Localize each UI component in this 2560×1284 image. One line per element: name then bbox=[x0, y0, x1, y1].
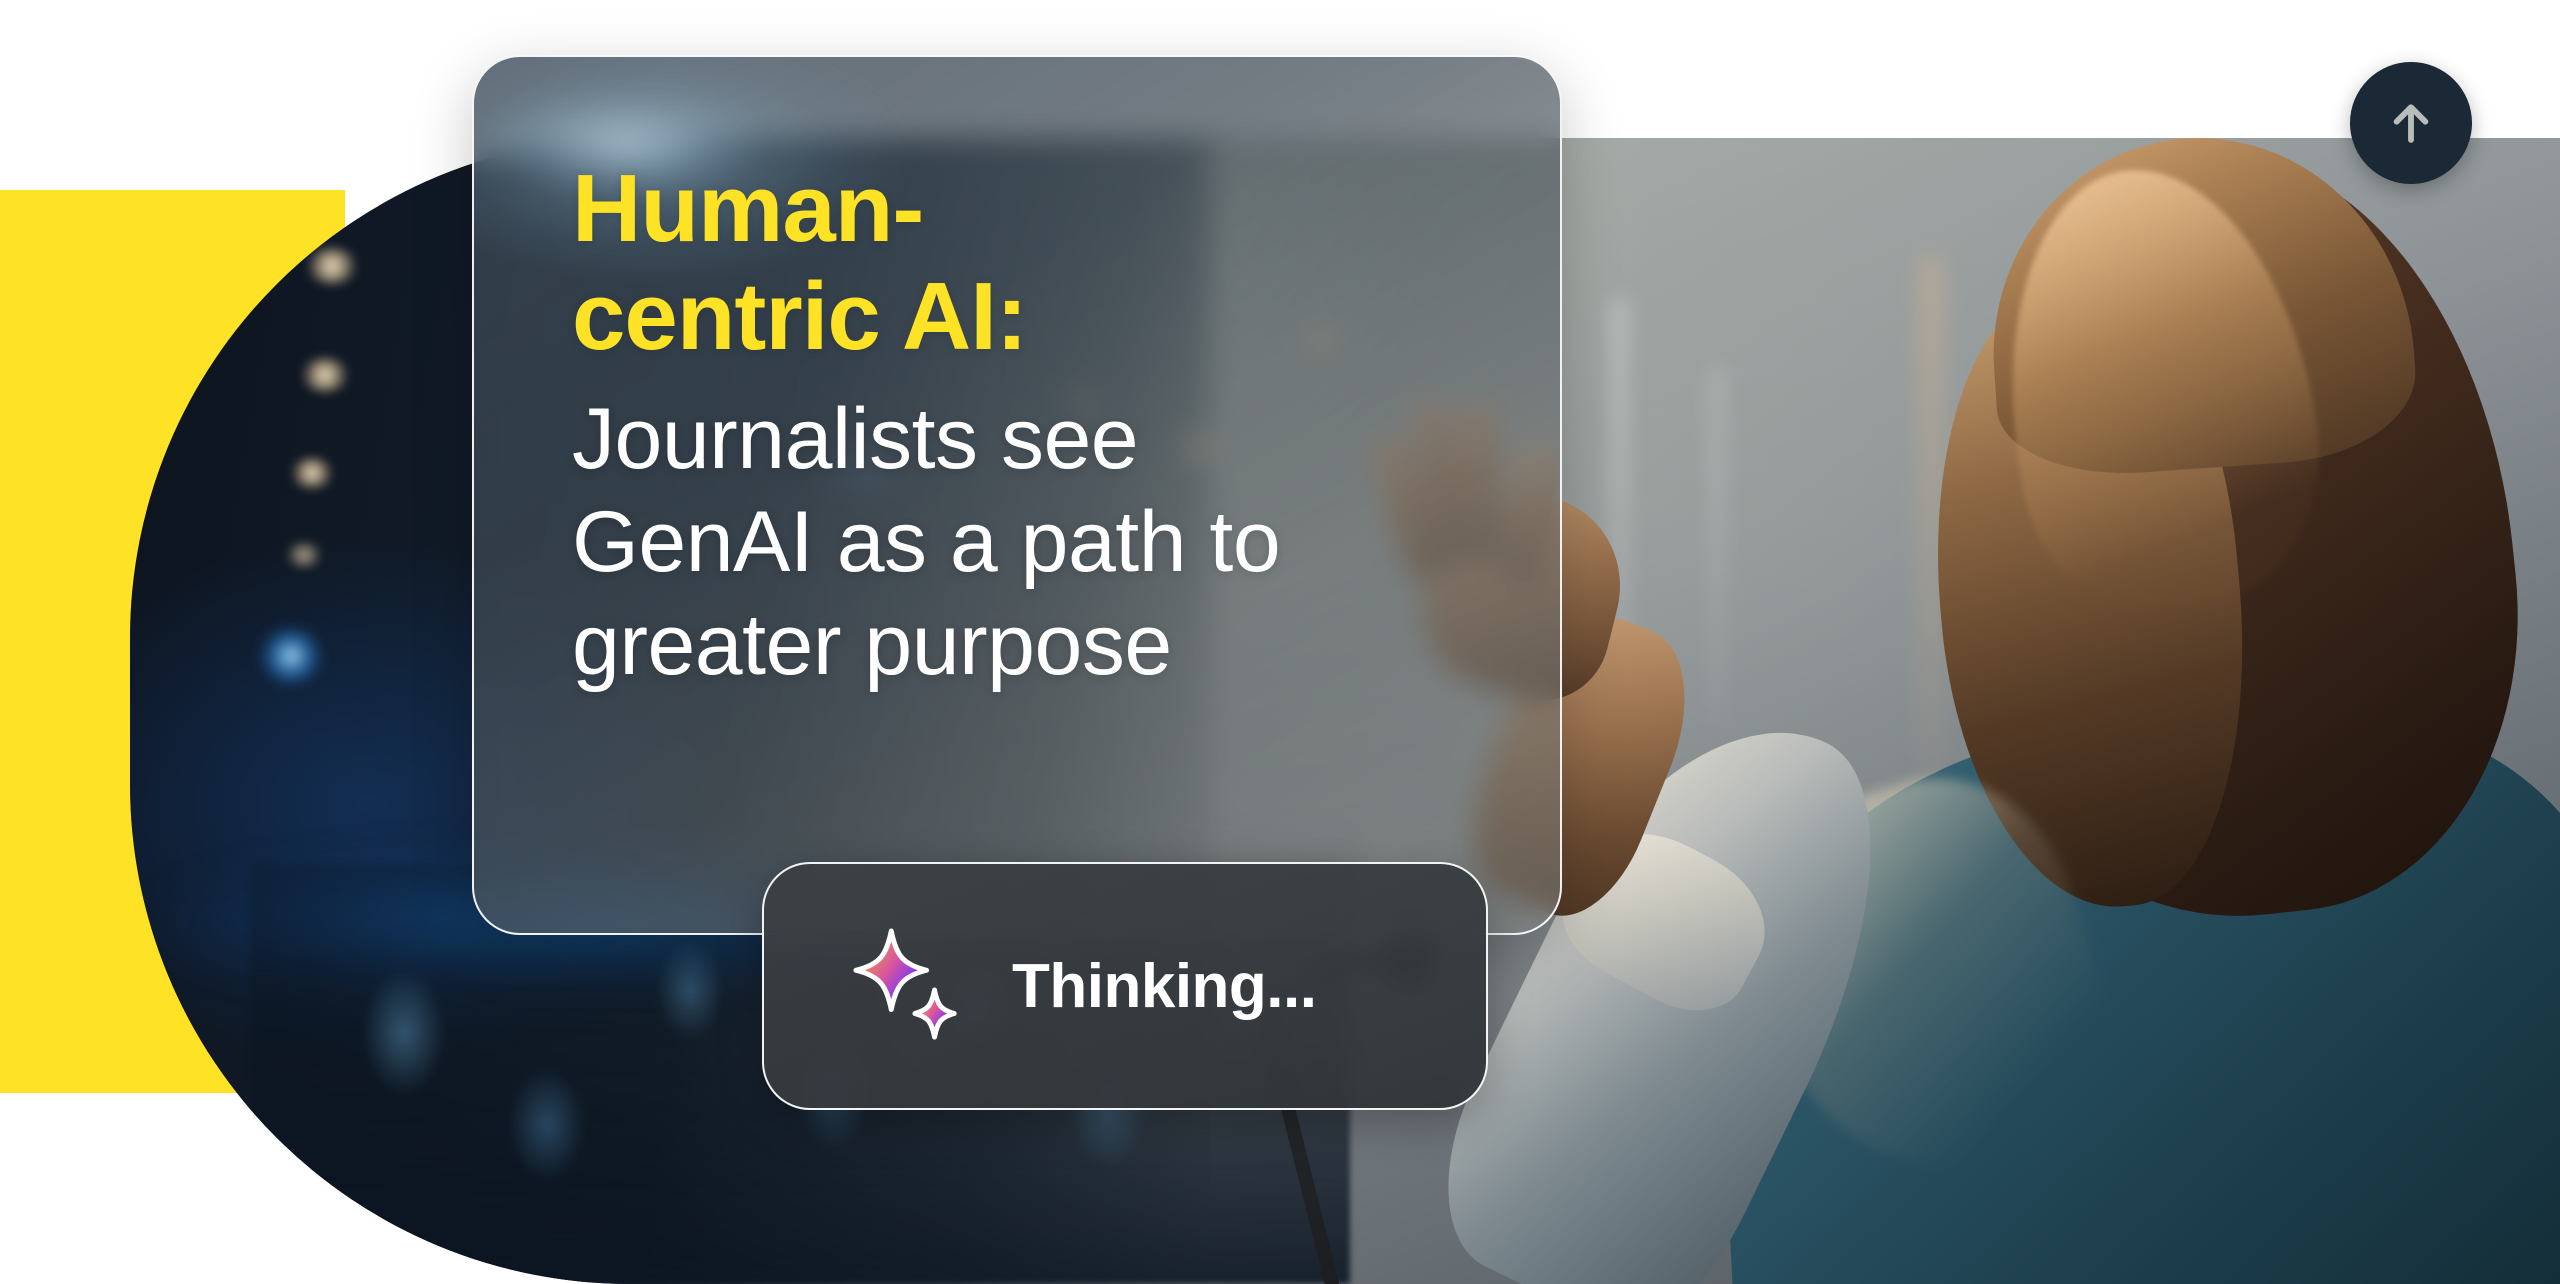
arrow-up-icon bbox=[2384, 96, 2438, 150]
thinking-status-pill[interactable]: Thinking... bbox=[762, 862, 1488, 1110]
page-title: Human- centric AI: bbox=[572, 155, 1560, 370]
thinking-label: Thinking... bbox=[1012, 951, 1316, 1022]
prompt-card-content: Human- centric AI: Journalists see GenAI… bbox=[474, 57, 1560, 933]
poster-canvas: Human- centric AI: Journalists see GenAI… bbox=[0, 0, 2560, 1284]
sparkles-icon bbox=[848, 927, 966, 1045]
submit-button[interactable] bbox=[2350, 62, 2472, 184]
prompt-card: Human- centric AI: Journalists see GenAI… bbox=[472, 55, 1562, 935]
page-subtitle: Journalists see GenAI as a path to great… bbox=[572, 388, 1560, 698]
